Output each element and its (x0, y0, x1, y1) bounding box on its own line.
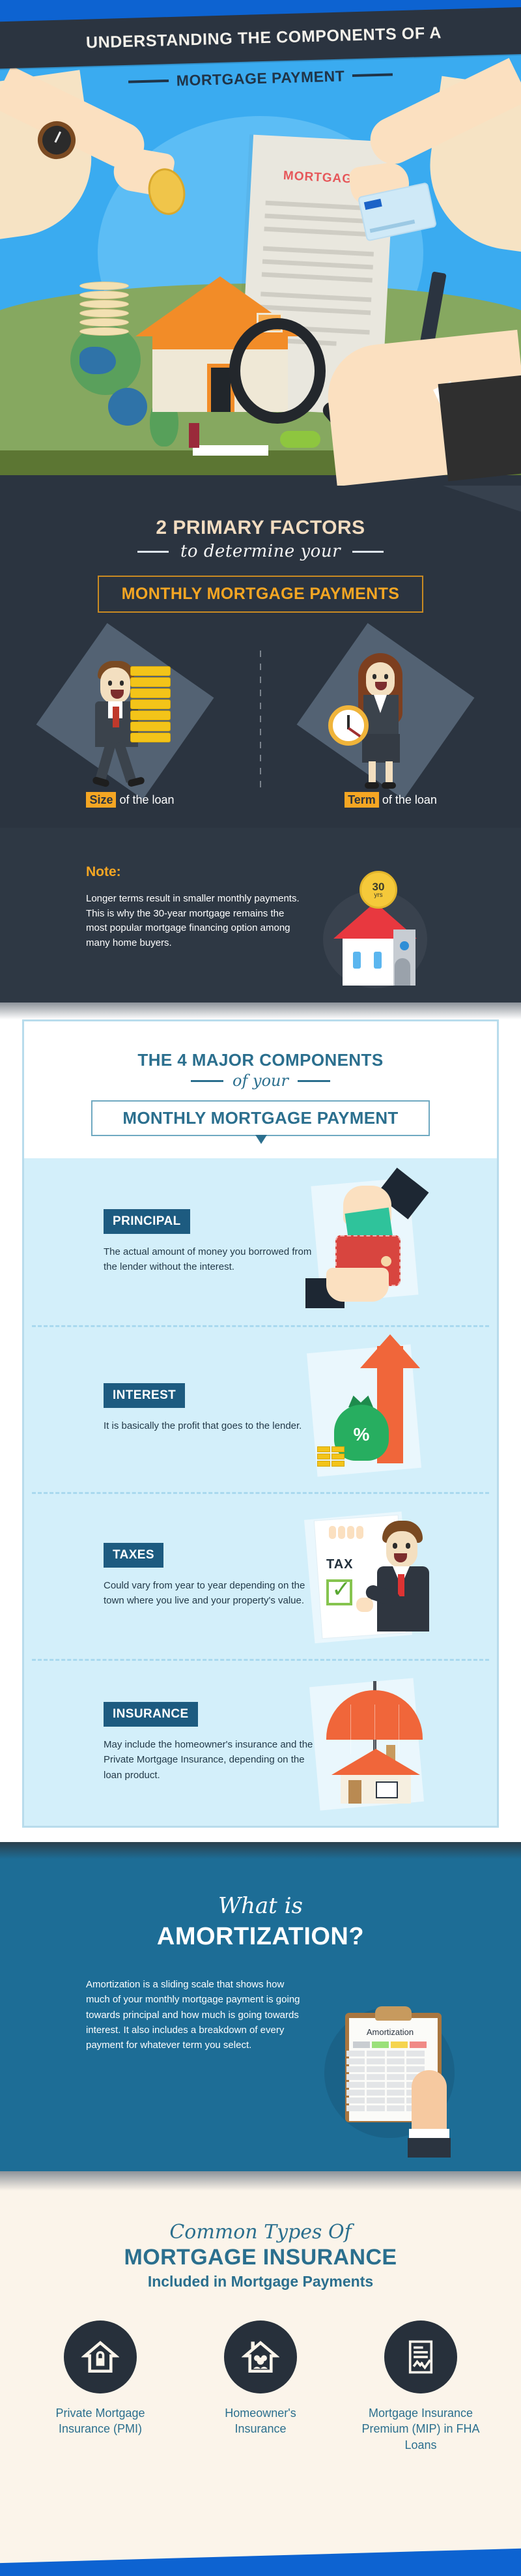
bottom-blue-bar (0, 2536, 521, 2576)
amortization-script: What is (0, 1859, 521, 1919)
factors-script: to determine your (180, 542, 341, 561)
suit-sleeve (438, 374, 521, 482)
mi-item-label: Homeowner's Insurance (199, 2405, 322, 2437)
magnifier-icon (229, 318, 326, 424)
growth-arrow-moneybag-illustration: % (309, 1342, 440, 1476)
factor-size-of-loan: Size of the loan (0, 639, 260, 808)
component-badge: TAXES (104, 1543, 163, 1568)
rule-right (352, 551, 384, 553)
component-taxes: TAXES Could vary from year to year depen… (24, 1492, 497, 1659)
factor-label: Size of the loan (0, 793, 260, 807)
components-frame: THE 4 MAJOR COMPONENTS of your MONTHLY M… (22, 1019, 499, 1828)
checkbox-checked-icon (326, 1579, 352, 1605)
factors-boxed-label: MONTHLY MORTGAGE PAYMENTS (98, 576, 423, 613)
corner-accent (443, 486, 521, 512)
mailbox-icon (189, 423, 199, 448)
mortgage-insurance-section: Common Types Of MORTGAGE INSURANCE Inclu… (0, 2171, 521, 2536)
components-title: THE 4 MAJOR COMPONENTS (24, 1050, 497, 1070)
section-gradient-top (0, 2171, 521, 2191)
primary-factors-section: 2 PRIMARY FACTORS to determine your MONT… (0, 486, 521, 828)
percent-symbol: % (334, 1424, 389, 1445)
note-body: Longer terms result in smaller monthly p… (86, 892, 307, 950)
component-text: TAXES Could vary from year to year depen… (24, 1543, 298, 1609)
component-divider (32, 1659, 489, 1661)
coin-unit: yrs (374, 892, 382, 899)
mi-item-pmi: Private Mortgage Insurance (PMI) (38, 2320, 162, 2453)
thirty-years-coin-badge: 30 yrs (359, 871, 397, 909)
section-gradient-top (0, 1003, 521, 1019)
components-boxed-label: MONTHLY MORTGAGE PAYMENT (91, 1100, 430, 1136)
factor-highlight: Size (86, 792, 116, 808)
mi-item-homeowners: Homeowner's Insurance (199, 2320, 322, 2453)
tax-label: TAX (326, 1557, 354, 1572)
mi-item-label: Mortgage Insurance Premium (MIP) in FHA … (359, 2405, 483, 2453)
factors-boxed-text: MONTHLY MORTGAGE PAYMENTS (122, 585, 400, 603)
hero-section: MORTGAGE (0, 0, 521, 486)
component-principal: PRINCIPAL The actual amount of money you… (24, 1158, 497, 1325)
hero-bottom-strip (0, 475, 521, 486)
amortization-body: Amortization is a sliding scale that sho… (86, 1977, 307, 2053)
mi-item-mip: Mortgage Insurance Premium (MIP) in FHA … (359, 2320, 483, 2453)
component-description: The actual amount of money you borrowed … (104, 1244, 318, 1275)
factor-rest: of the loan (119, 793, 174, 806)
component-text: INTEREST It is basically the profit that… (24, 1383, 298, 1433)
components-boxed-text: MONTHLY MORTGAGE PAYMENT (122, 1108, 398, 1128)
shrub-icon (280, 431, 320, 448)
components-section: THE 4 MAJOR COMPONENTS of your MONTHLY M… (0, 1003, 521, 1842)
mi-subtitle: Included in Mortgage Payments (0, 2273, 521, 2291)
factors-title: 2 PRIMARY FACTORS (0, 517, 521, 539)
component-text: INSURANCE May include the homeowner's in… (24, 1702, 298, 1783)
mi-title: MORTGAGE INSURANCE (0, 2245, 521, 2270)
component-divider (32, 1492, 489, 1494)
page-title-line1: UNDERSTANDING THE COMPONENTS OF A (86, 23, 442, 52)
mi-items: Private Mortgage Insurance (PMI) Homeown… (0, 2320, 521, 2453)
factor-term-of-loan: Term of the loan (260, 639, 521, 808)
coin-stack-icon (317, 1446, 346, 1470)
clipboard-title: Amortization (341, 2027, 439, 2037)
component-insurance: INSURANCE May include the homeowner's in… (24, 1659, 497, 1826)
businessman-with-coins-illustration (91, 656, 176, 786)
factor-label: Term of the loan (260, 793, 521, 807)
house-icon (331, 1749, 420, 1804)
infographic-page: MORTGAGE (0, 0, 521, 2576)
rule-right (298, 1080, 330, 1082)
mi-item-label: Private Mortgage Insurance (PMI) (38, 2405, 162, 2437)
component-description: Could vary from year to year depending o… (104, 1578, 318, 1609)
coin-number: 30 (373, 881, 385, 892)
component-badge: INSURANCE (104, 1702, 198, 1727)
house-lock-icon (64, 2320, 137, 2393)
components-list: PRINCIPAL The actual amount of money you… (24, 1158, 497, 1826)
factor-rest: of the loan (382, 793, 437, 806)
component-badge: INTEREST (104, 1383, 185, 1408)
components-script-row: of your (24, 1072, 497, 1090)
components-script: of your (232, 1072, 289, 1090)
businesswoman-with-clock-illustration (349, 649, 434, 789)
component-divider (32, 1325, 489, 1327)
rule-left (128, 80, 169, 83)
factor-highlight: Term (345, 792, 379, 808)
components-header: THE 4 MAJOR COMPONENTS of your MONTHLY M… (24, 1021, 497, 1141)
section-gradient-top (0, 1842, 521, 1859)
amortization-section: What is AMORTIZATION? Amortization is a … (0, 1842, 521, 2171)
note-inner: Note: Longer terms result in smaller mon… (0, 864, 521, 950)
coin-stack-icon (130, 666, 171, 751)
amortization-title: AMORTIZATION? (0, 1923, 521, 1951)
umbrella-house-illustration (309, 1676, 440, 1809)
factors-grid: Size of the loan Term of the loan (0, 639, 521, 808)
component-description: May include the homeowner's insurance an… (104, 1737, 318, 1783)
house-step (193, 445, 268, 456)
page-title-line2: MORTGAGE PAYMENT (176, 67, 345, 89)
wallet-cash-illustration (309, 1175, 440, 1309)
house-family-icon (224, 2320, 297, 2393)
component-badge: PRINCIPAL (104, 1209, 190, 1234)
document-check-icon (384, 2320, 457, 2393)
component-interest: INTEREST It is basically the profit that… (24, 1325, 497, 1492)
rule-left (191, 1080, 223, 1082)
coin-stack-hero (79, 282, 129, 353)
house-30yrs-illustration: 30 yrs (319, 871, 430, 988)
clipboard-illustration: Amortization (341, 2013, 439, 2143)
component-description: It is basically the profit that goes to … (104, 1418, 318, 1433)
factors-script-row: to determine your (0, 542, 521, 561)
note-title: Note: (86, 864, 307, 880)
component-text: PRINCIPAL The actual amount of money you… (24, 1209, 298, 1275)
note-section: Note: Longer terms result in smaller mon… (0, 828, 521, 1003)
tax-form-man-illustration: TAX (309, 1509, 440, 1643)
rule-right (352, 73, 393, 77)
rule-left (137, 551, 169, 553)
clock-icon (328, 705, 369, 746)
caret-down-icon (255, 1135, 267, 1144)
mi-script: Common Types Of (0, 2191, 521, 2244)
